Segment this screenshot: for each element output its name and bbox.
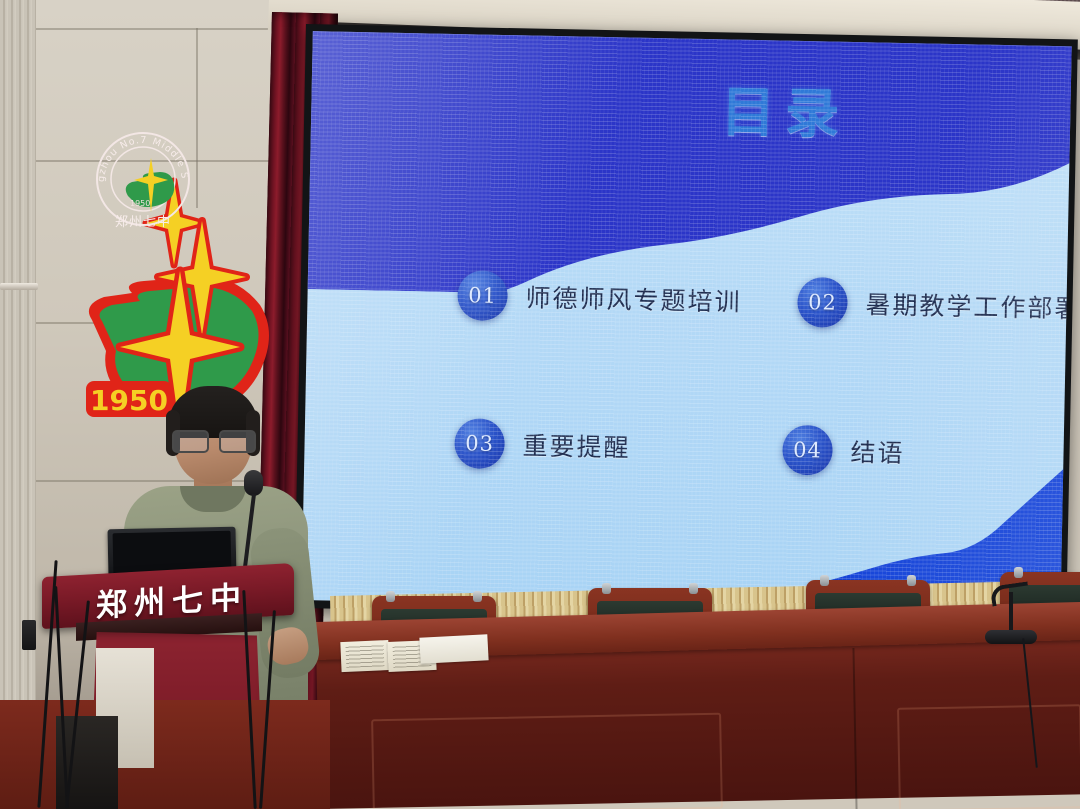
toc-badge-02: 02: [797, 277, 848, 328]
podium-school-logo: Zhengzhou No.7 Middle School 1950 郑州七中: [88, 124, 198, 234]
led-screen-frame: 目录 01 师德师风专题培训 02 暑期教学工作部署 03 重要提醒: [294, 24, 1078, 623]
table-panel-molding: [371, 713, 723, 809]
presentation-room-photo: 1950 目录 01 师德师风专题培训 02 暑期教学: [0, 0, 1080, 809]
chair-knob: [473, 591, 482, 602]
glasses-icon: [172, 430, 256, 450]
chair-knob: [386, 591, 395, 602]
slide-title: 目录: [720, 67, 850, 149]
logo-chinese-text: 郑州七中: [115, 215, 171, 230]
microphone-base: [985, 630, 1037, 644]
chair-knob: [907, 575, 916, 586]
toc-item-03: 03 重要提醒: [454, 418, 727, 473]
notebook-left-page: [340, 640, 389, 672]
toc-label-03: 重要提醒: [522, 426, 631, 464]
toc-item-02: 02 暑期教学工作部署: [797, 277, 1072, 333]
ribbed-column: [0, 0, 36, 809]
notebook-lines: [345, 644, 384, 668]
chair-knob: [820, 575, 829, 586]
slide-wave-top: [306, 31, 1072, 304]
table-panel-molding: [897, 704, 1080, 809]
toc-row: 03 重要提醒 04 结语: [454, 418, 1055, 480]
toc-label-01: 师德师风专题培训: [525, 278, 742, 318]
column-bracket: [0, 283, 38, 290]
chair-knob: [1014, 567, 1023, 578]
wall-outlet-plate: [22, 620, 36, 650]
toc-badge-04: 04: [782, 425, 833, 476]
floor: [0, 700, 330, 809]
microphone-stem: [1009, 592, 1013, 634]
glasses-lens: [219, 430, 256, 453]
microphone-head: [244, 470, 263, 496]
toc-badge-03: 03: [454, 418, 505, 469]
toc-row: 01 师德师风专题培训 02 暑期教学工作部署: [457, 270, 1058, 332]
toc-label-04: 结语: [850, 433, 905, 470]
toc-item-01: 01 师德师风专题培训: [457, 270, 742, 326]
presentation-slide: 目录 01 师德师风专题培训 02 暑期教学工作部署 03 重要提醒: [301, 31, 1071, 615]
slide-toc: 01 师德师风专题培训 02 暑期教学工作部署 03 重要提醒 04: [452, 270, 1058, 578]
school-logo-graphic: Zhengzhou No.7 Middle School 1950 郑州七中: [88, 124, 198, 234]
logo-year: 1950: [130, 199, 150, 208]
wall-seam: [34, 28, 300, 30]
toc-badge-01: 01: [457, 270, 508, 321]
toc-item-04: 04 结语: [782, 425, 1055, 480]
chair-knob: [602, 583, 611, 594]
toc-label-02: 暑期教学工作部署: [865, 285, 1072, 325]
chair-knob: [689, 583, 698, 594]
loose-papers: [419, 634, 488, 664]
conference-microphone: [985, 580, 1045, 650]
glasses-lens: [172, 430, 209, 453]
